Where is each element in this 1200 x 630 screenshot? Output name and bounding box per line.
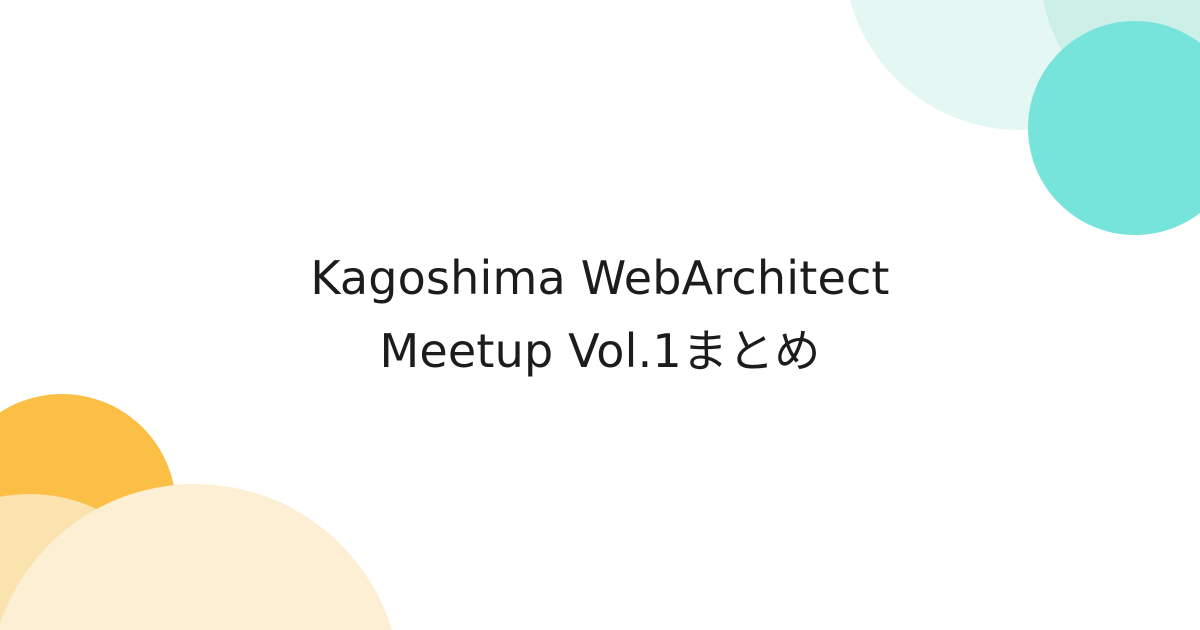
page-title: Kagoshima WebArchitect Meetup Vol.1まとめ	[0, 242, 1200, 387]
ogp-card: Kagoshima WebArchitect Meetup Vol.1まとめ	[0, 0, 1200, 630]
card-content: Kagoshima WebArchitect Meetup Vol.1まとめ	[0, 0, 1200, 630]
